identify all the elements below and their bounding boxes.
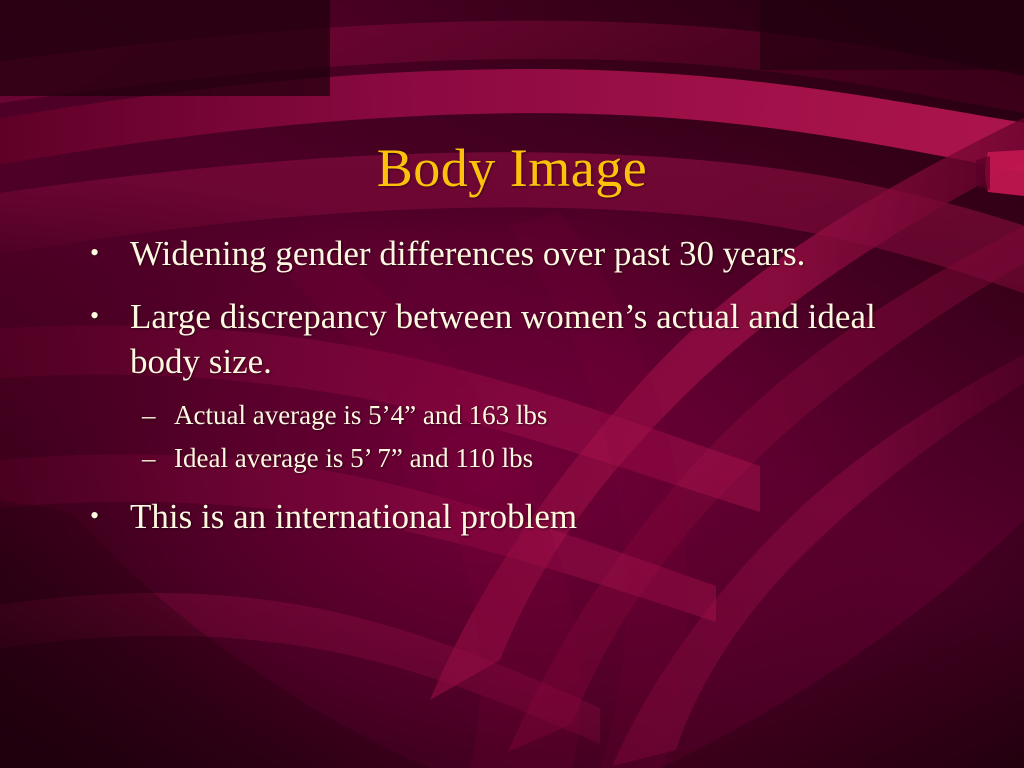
bullet-text: This is an international problem [130,495,942,540]
sub-bullet-text: Actual average is 5’4” and 163 lbs [174,398,964,433]
bullet-spacer [84,485,964,495]
sub-bullet-text: Ideal average is 5’ 7” and 110 lbs [174,441,964,476]
bullet-text: Large discrepancy between women’s actual… [130,295,942,385]
bullet-marker-dot: • [84,495,130,537]
slide-body-bullets: • Widening gender differences over past … [84,232,964,543]
bullet-marker-dash: – [142,441,174,476]
bullet-item: • Large discrepancy between women’s actu… [84,295,964,385]
bullet-item: • Widening gender differences over past … [84,232,964,277]
bullet-spacer [84,281,964,295]
bullet-spacer [84,388,964,398]
presentation-slide: Body Image • Widening gender differences… [0,0,1024,768]
bullet-item: • This is an international problem [84,495,964,540]
bullet-marker-dot: • [84,295,130,337]
bullet-marker-dash: – [142,398,174,433]
sub-bullet-item: – Actual average is 5’4” and 163 lbs [142,398,964,433]
slide-content: Body Image • Widening gender differences… [0,0,1024,768]
slide-title: Body Image [0,140,1024,197]
sub-bullet-item: – Ideal average is 5’ 7” and 110 lbs [142,441,964,476]
bullet-text: Widening gender differences over past 30… [130,232,942,277]
bullet-marker-dot: • [84,232,130,274]
